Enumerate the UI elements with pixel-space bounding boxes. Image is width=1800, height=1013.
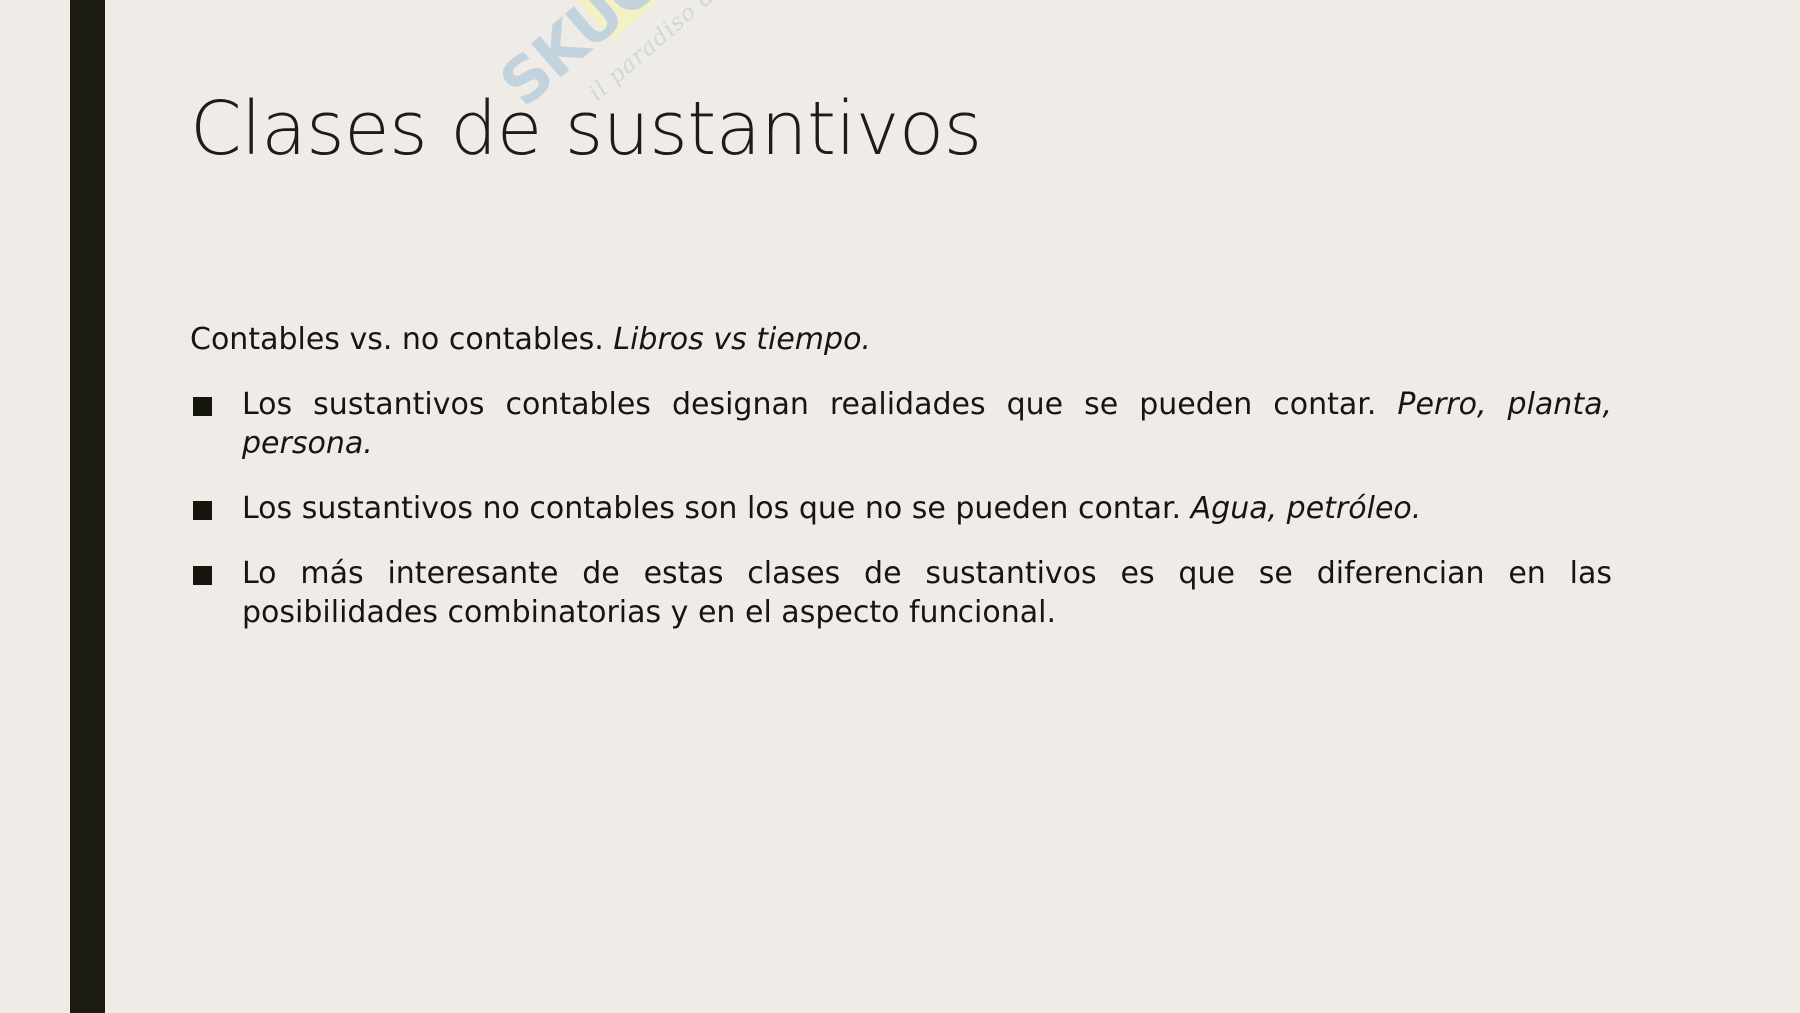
bullet-2-italic-text: Agua, petróleo. xyxy=(1191,491,1422,526)
lead-italic-text: Libros vs tiempo. xyxy=(613,322,871,357)
watermark-highlight-box xyxy=(571,0,685,40)
slide-title: Clases de sustantivos xyxy=(190,90,1610,170)
lead-plain-text: Contables vs. no contables. xyxy=(190,322,613,357)
bullet-1-plain-text: Los sustantivos contables designan reali… xyxy=(242,387,1397,422)
square-bullet-icon xyxy=(193,501,212,520)
bullet-item-2: Los sustantivos no contables son los que… xyxy=(190,489,1612,528)
bullet-item-1: Los sustantivos contables designan reali… xyxy=(190,385,1612,463)
bullet-2-plain-text: Los sustantivos no contables son los que… xyxy=(242,491,1191,526)
slide-canvas: SKUOLA.net il paradiso dello studente Cl… xyxy=(0,0,1800,1013)
lead-paragraph: Contables vs. no contables. Libros vs ti… xyxy=(190,320,1612,359)
square-bullet-icon xyxy=(193,397,212,416)
left-accent-bar xyxy=(70,0,105,1013)
slide-body: Contables vs. no contables. Libros vs ti… xyxy=(190,320,1612,632)
bullet-item-3: Lo más interesante de estas clases de su… xyxy=(190,554,1612,632)
square-bullet-icon xyxy=(193,566,212,585)
bullet-3-plain-text: Lo más interesante de estas clases de su… xyxy=(242,556,1612,630)
bullet-list: Los sustantivos contables designan reali… xyxy=(190,385,1612,632)
